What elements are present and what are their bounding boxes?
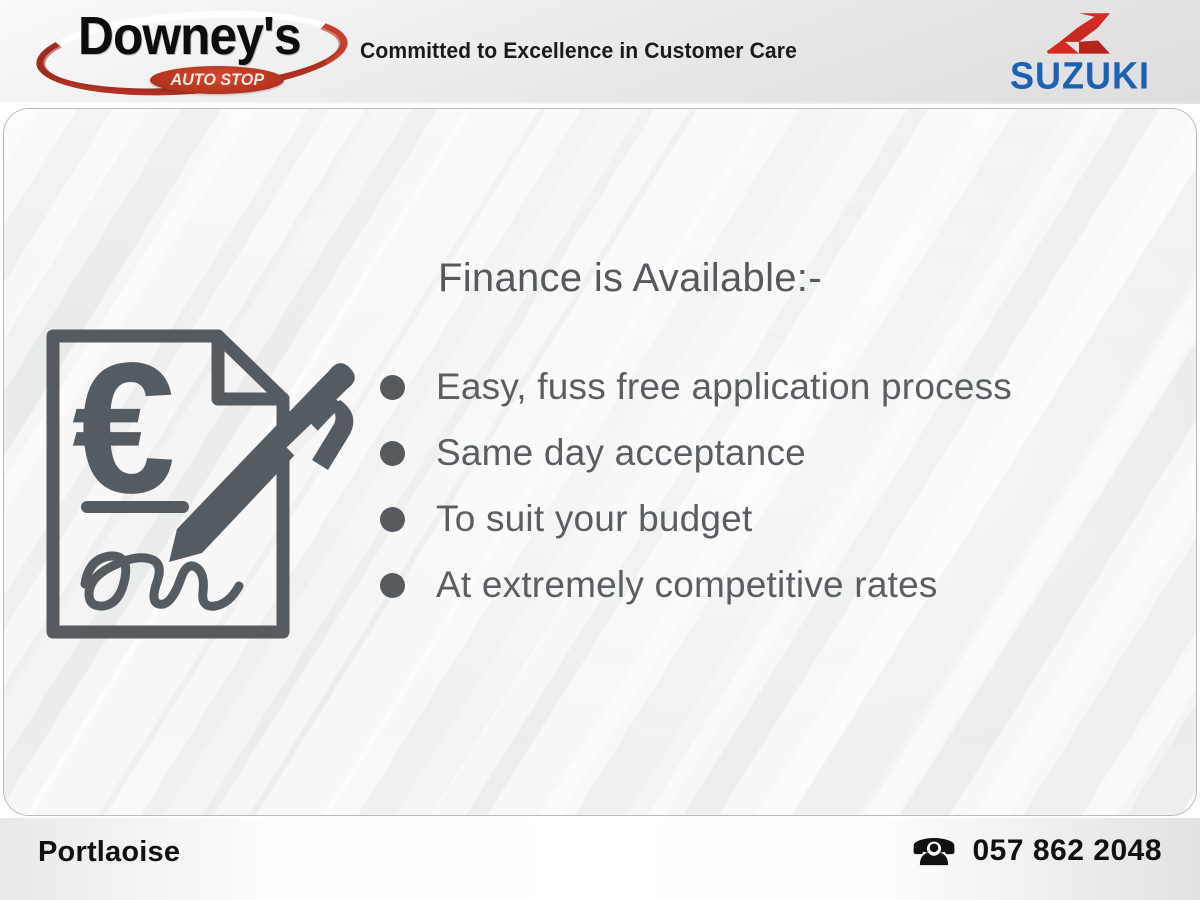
phone-number: 057 862 2048 — [972, 834, 1162, 868]
page-title: Finance is Available:- — [438, 256, 822, 301]
list-item-label: Same day acceptance — [436, 433, 806, 473]
suzuki-logo[interactable]: SUZUKI — [985, 12, 1175, 96]
list-item: At extremely competitive rates — [380, 552, 1180, 618]
bullet-dot-icon — [380, 573, 405, 598]
signature-squiggle — [85, 556, 239, 606]
list-item: Same day acceptance — [380, 420, 1180, 486]
finance-card: € Finance is Available:- Easy, fuss free… — [3, 108, 1197, 816]
list-item-label: To suit your budget — [436, 499, 752, 539]
suzuki-emblem-icon — [1043, 12, 1115, 56]
bullet-dot-icon — [380, 507, 405, 532]
finance-benefits-list: Easy, fuss free application process Same… — [380, 354, 1180, 618]
finance-document-euro-pen-icon: € — [40, 314, 370, 654]
list-item-label: At extremely competitive rates — [436, 565, 938, 605]
suzuki-wordmark: SUZUKI — [985, 55, 1175, 97]
phone-contact[interactable]: 057 862 2048 — [912, 834, 1162, 868]
auto-stop-badge: AUTO STOP — [150, 66, 284, 94]
location-label: Portlaoise — [38, 836, 180, 869]
auto-stop-badge-label: AUTO STOP — [170, 70, 264, 90]
downeys-wordmark: Downey's — [78, 6, 301, 66]
list-item: Easy, fuss free application process — [380, 354, 1180, 420]
header-tagline: Committed to Excellence in Customer Care — [360, 38, 797, 64]
bullet-dot-icon — [380, 375, 405, 400]
footer-bar: Portlaoise 057 862 2048 — [0, 818, 1200, 900]
header-bar: Downey's AUTO STOP Committed to Excellen… — [0, 0, 1200, 104]
downeys-logo[interactable]: Downey's AUTO STOP — [32, 4, 352, 100]
telephone-icon — [912, 835, 956, 867]
document-rule-line — [81, 501, 189, 513]
list-item: To suit your budget — [380, 486, 1180, 552]
list-item-label: Easy, fuss free application process — [436, 367, 1012, 407]
bullet-dot-icon — [380, 441, 405, 466]
svg-text:€: € — [72, 325, 175, 532]
finance-advert-poster: Downey's AUTO STOP Committed to Excellen… — [0, 0, 1200, 900]
euro-symbol: € — [72, 325, 175, 532]
